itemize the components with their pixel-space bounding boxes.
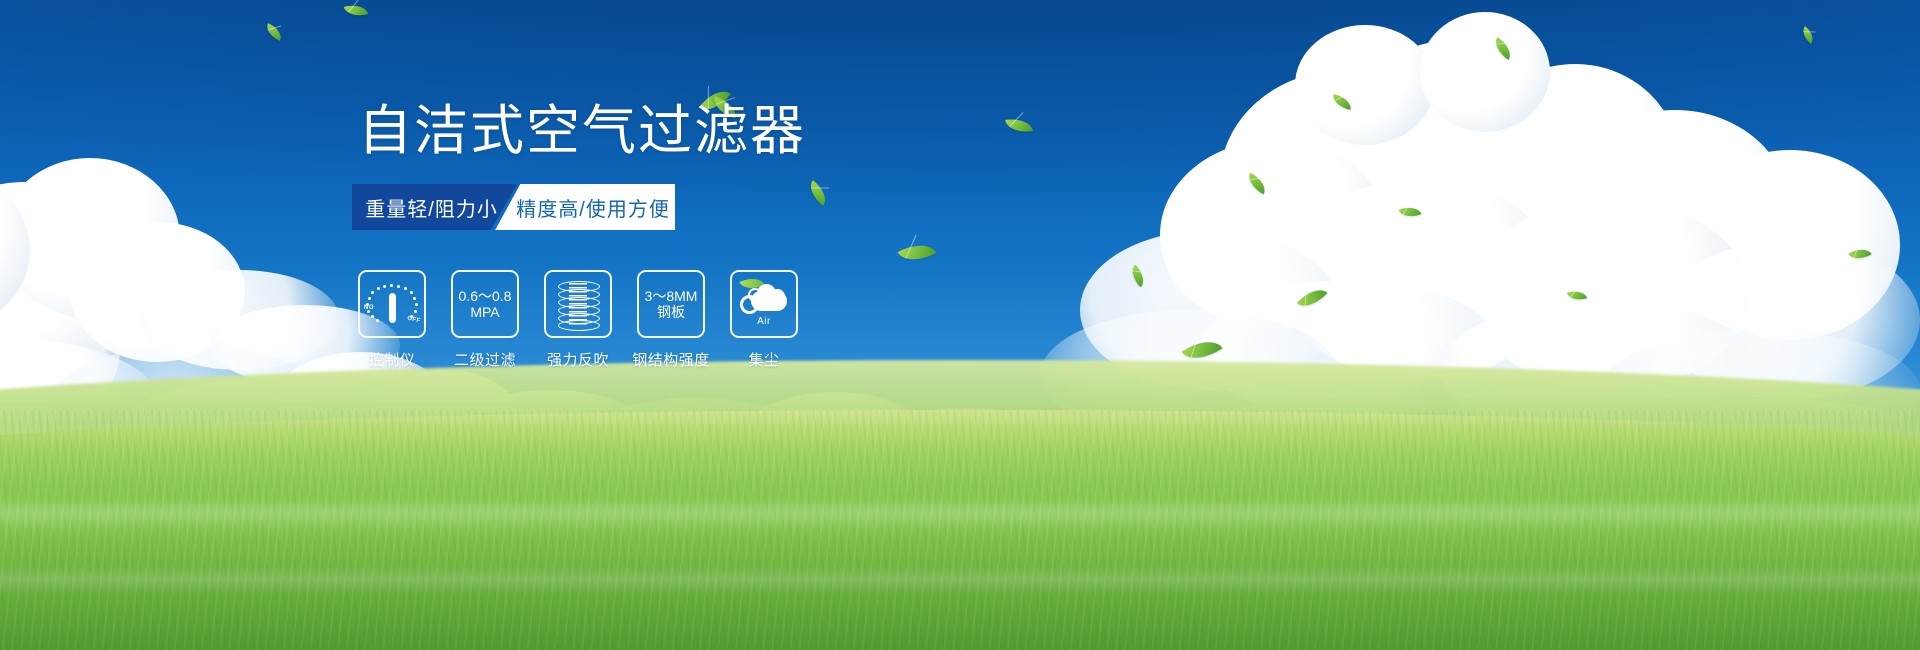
grass-shading: [0, 530, 1920, 650]
pressure-range-text: 0.6～0.8: [459, 288, 512, 304]
air-label: Air: [739, 316, 789, 327]
tag-lightweight-lowresistance[interactable]: 重量轻/阻力小: [352, 184, 517, 230]
tag-group: 重量轻/阻力小 精度高/使用方便: [352, 184, 675, 230]
grass-highlight-band: [0, 506, 1920, 532]
tag-highprecision-easyuse[interactable]: 精度高/使用方便: [495, 184, 675, 230]
feature-box-backblow: [544, 270, 612, 338]
feature-box-dust: Air: [730, 270, 798, 338]
gauge-off-label: OFF: [406, 316, 420, 325]
feature-item-backblow[interactable]: 强力反吹: [543, 270, 613, 370]
pressure-unit-text: MPA: [470, 304, 499, 320]
feature-label-steel: 钢结构强度: [632, 349, 710, 370]
banner-content: 自洁式空气过滤器 重量轻/阻力小 精度高/使用方便: [350, 104, 970, 230]
steel-plate-text: 钢板: [657, 304, 685, 320]
feature-item-dust[interactable]: Air 集尘: [729, 270, 799, 370]
cloud-air-icon: Air: [739, 283, 789, 325]
gauge-on-label: NO: [364, 305, 374, 311]
coil-icon: [554, 280, 602, 328]
feature-box-filtration: 0.6～0.8 MPA: [451, 270, 519, 338]
gauge-icon: NO OFF: [366, 281, 418, 327]
feature-label-controller: 控制仪: [369, 349, 416, 370]
feature-item-steel[interactable]: 3～8MM 钢板 钢结构强度: [636, 270, 706, 370]
feature-label-filtration: 二级过滤: [454, 349, 516, 370]
steel-thickness-text: 3～8MM: [645, 288, 698, 304]
feature-item-controller[interactable]: NO OFF 控制仪: [357, 270, 427, 370]
feature-item-filtration[interactable]: 0.6～0.8 MPA 二级过滤: [450, 270, 520, 370]
feature-box-controller: NO OFF: [358, 270, 426, 338]
feature-list: NO OFF 控制仪 0.6～0.8 MPA 二级过滤: [357, 270, 799, 370]
page-title: 自洁式空气过滤器: [358, 104, 970, 158]
feature-label-backblow: 强力反吹: [547, 349, 609, 370]
hero-banner: 自洁式空气过滤器 重量轻/阻力小 精度高/使用方便: [0, 0, 1920, 650]
feature-label-dust: 集尘: [748, 349, 779, 370]
feature-box-steel: 3～8MM 钢板: [637, 270, 705, 338]
